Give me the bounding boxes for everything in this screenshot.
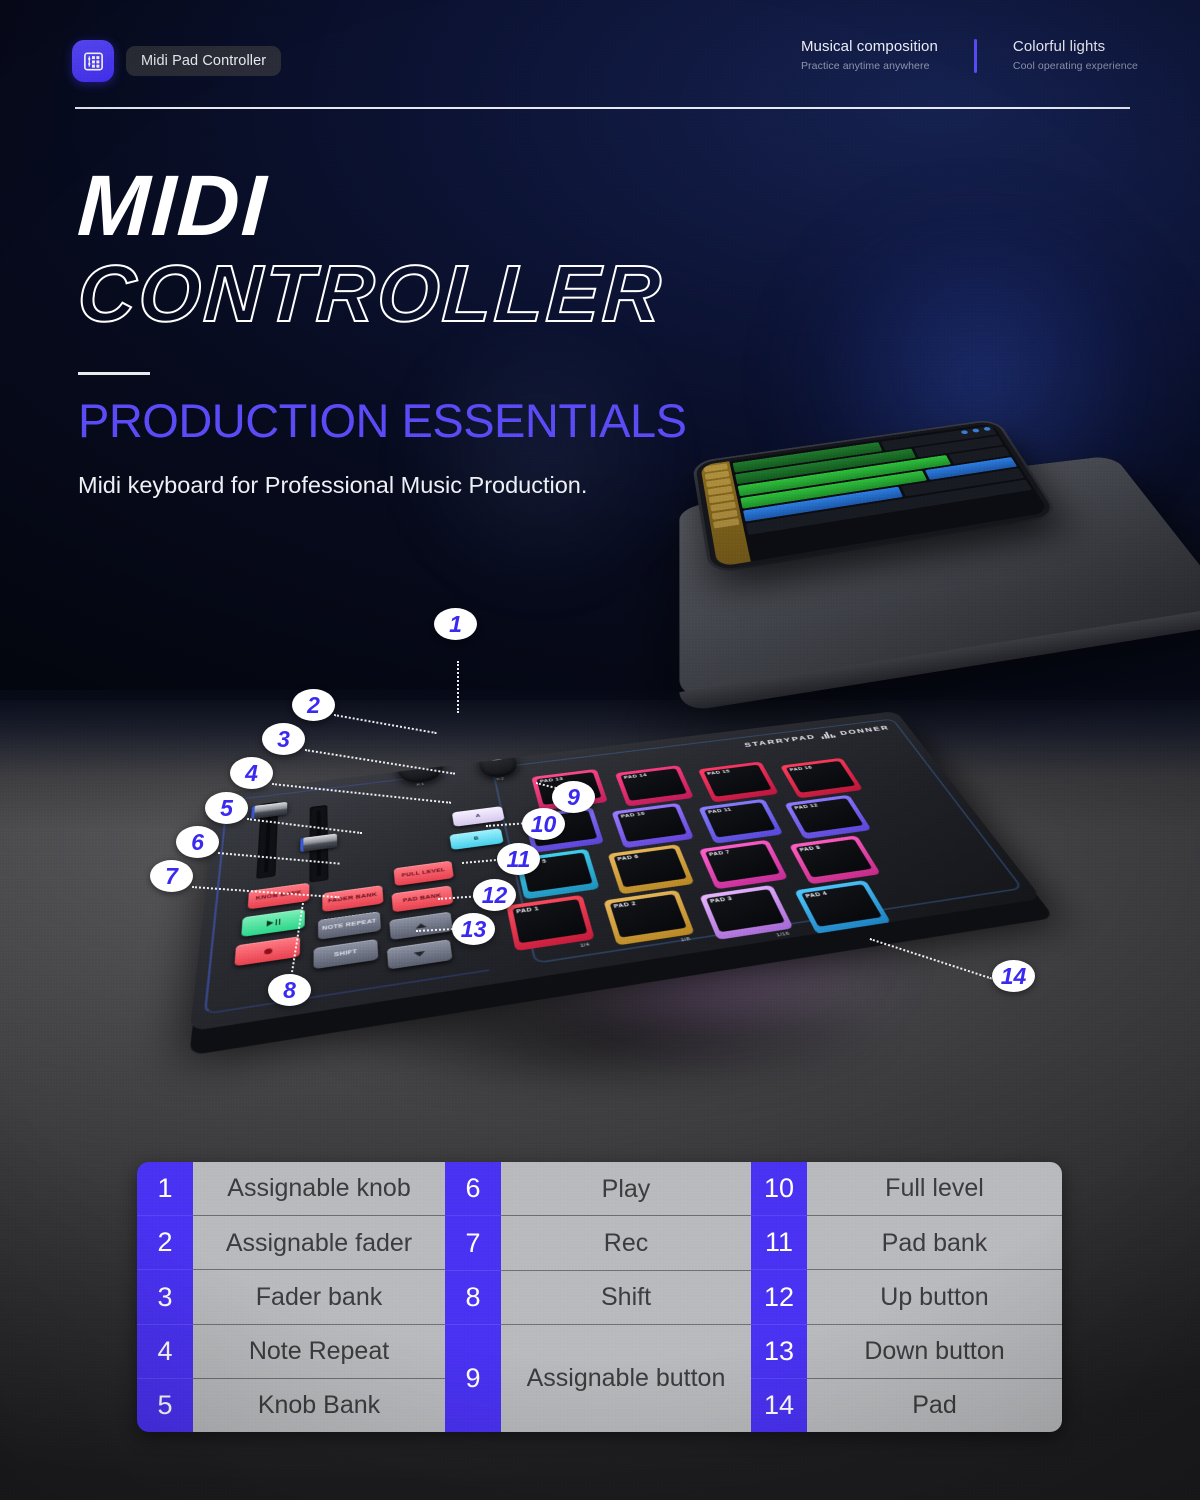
button-label: PAD BANK <box>403 894 442 904</box>
legend-label: Note Repeat <box>193 1325 445 1379</box>
hero-title-line2: CONTROLLER <box>76 254 740 334</box>
assignable-fader-1[interactable] <box>256 802 278 879</box>
button-label: NOTE REPEAT <box>322 919 377 932</box>
legend-label: Assignable knob <box>193 1162 445 1216</box>
button-label: B <box>474 837 480 842</box>
hero-description: Midi keyboard for Professional Music Pro… <box>78 468 598 502</box>
legend-number: 1 <box>137 1162 193 1216</box>
pad-1[interactable]: PAD 11/4 <box>506 895 594 951</box>
callout-5[interactable]: 5 <box>205 792 248 824</box>
callout-3[interactable]: 3 <box>262 723 305 755</box>
legend-label: Pad bank <box>807 1216 1062 1270</box>
legend-label: Full level <box>807 1162 1062 1216</box>
legend-number: 10 <box>751 1162 807 1216</box>
header-feature-list: Musical composition Practice anytime any… <box>801 38 1138 73</box>
callout-7[interactable]: 7 <box>150 860 193 892</box>
callout-6[interactable]: 6 <box>176 826 219 858</box>
legend-label: Assignable button <box>501 1325 751 1432</box>
legend-label: Rec <box>501 1216 751 1270</box>
callout-9[interactable]: 9 <box>552 781 595 813</box>
legend-label: Down button <box>807 1325 1062 1379</box>
feature-title: Musical composition <box>801 38 938 55</box>
legend-number: 7 <box>445 1216 501 1270</box>
hero-title-line1: MIDI <box>76 165 740 248</box>
header-rule <box>75 107 1130 109</box>
legend-number: 11 <box>751 1216 807 1270</box>
legend-number: 14 <box>751 1379 807 1432</box>
hero-section: MIDI CONTROLLER PRODUCTION ESSENTIALS Mi… <box>78 165 738 502</box>
legend-label: Fader bank <box>193 1270 445 1324</box>
legend-label: Knob Bank <box>193 1379 445 1432</box>
callout-14[interactable]: 14 <box>992 960 1035 992</box>
leader-1 <box>457 661 459 713</box>
chevron-up-icon <box>415 923 427 929</box>
header-divider <box>974 39 977 73</box>
button-label: FULL LEVEL <box>401 868 445 879</box>
legend-number: 8 <box>445 1271 501 1325</box>
legend-label: Play <box>501 1162 751 1216</box>
callout-10[interactable]: 10 <box>522 808 565 840</box>
legend-number: 2 <box>137 1216 193 1270</box>
brand-label: Midi Pad Controller <box>126 46 281 76</box>
callout-2[interactable]: 2 <box>292 689 335 721</box>
callout-4[interactable]: 4 <box>230 757 273 789</box>
legend-label: Pad <box>807 1379 1062 1432</box>
button-label: A <box>475 814 481 819</box>
button-label: FADER BANK <box>328 893 377 905</box>
callout-11[interactable]: 11 <box>497 843 540 875</box>
legend-number: 9 <box>445 1325 501 1432</box>
legend-label: Up button <box>807 1270 1062 1324</box>
legend-numbers-col-2: 6 7 8 9 <box>445 1162 501 1432</box>
page-header: Midi Pad Controller Musical composition … <box>0 0 1200 110</box>
pad-note: 1/8 <box>680 937 691 943</box>
feature-subtitle: Cool operating experience <box>1013 60 1138 72</box>
legend-number: 6 <box>445 1162 501 1216</box>
legend-label: Shift <box>501 1271 751 1325</box>
chevron-down-icon <box>414 951 426 957</box>
feature-title: Colorful lights <box>1013 38 1138 55</box>
legend-numbers-col-1: 1 2 3 4 5 <box>137 1162 193 1432</box>
legend-number: 12 <box>751 1270 807 1324</box>
legend-number: 5 <box>137 1379 193 1432</box>
legend-number: 3 <box>137 1270 193 1324</box>
infographic-stage: Midi Pad Controller Musical composition … <box>0 0 1200 1500</box>
callout-8[interactable]: 8 <box>268 974 311 1006</box>
legend-labels-col-2: Play Rec Shift Assignable button <box>501 1162 751 1432</box>
feature-subtitle: Practice anytime anywhere <box>801 60 938 72</box>
legend-number: 4 <box>137 1325 193 1379</box>
header-feature-1: Colorful lights Cool operating experienc… <box>1013 38 1138 72</box>
legend-number: 13 <box>751 1325 807 1379</box>
pad-2[interactable]: PAD 21/8 <box>603 890 694 946</box>
callout-1[interactable]: 1 <box>434 608 477 640</box>
legend-table: 1 2 3 4 5 Assignable knob Assignable fad… <box>137 1162 1062 1432</box>
legend-labels-col-1: Assignable knob Assignable fader Fader b… <box>193 1162 445 1432</box>
hero-subtitle: PRODUCTION ESSENTIALS <box>78 397 738 444</box>
hero-divider-dash <box>78 372 150 375</box>
legend-label: Assignable fader <box>193 1216 445 1270</box>
button-label: SHIFT <box>334 949 357 958</box>
callout-12[interactable]: 12 <box>473 879 516 911</box>
legend-numbers-col-3: 10 11 12 13 14 <box>751 1162 807 1432</box>
header-feature-0: Musical composition Practice anytime any… <box>801 38 938 72</box>
pad-note: 1/16 <box>776 931 791 938</box>
callout-13[interactable]: 13 <box>452 913 495 945</box>
brand-badge: Midi Pad Controller <box>72 40 281 82</box>
assignable-fader-2[interactable] <box>309 805 328 883</box>
midi-pad-grid-icon <box>72 40 114 82</box>
record-dot-icon <box>264 948 272 955</box>
legend-labels-col-3: Full level Pad bank Up button Down butto… <box>807 1162 1062 1432</box>
